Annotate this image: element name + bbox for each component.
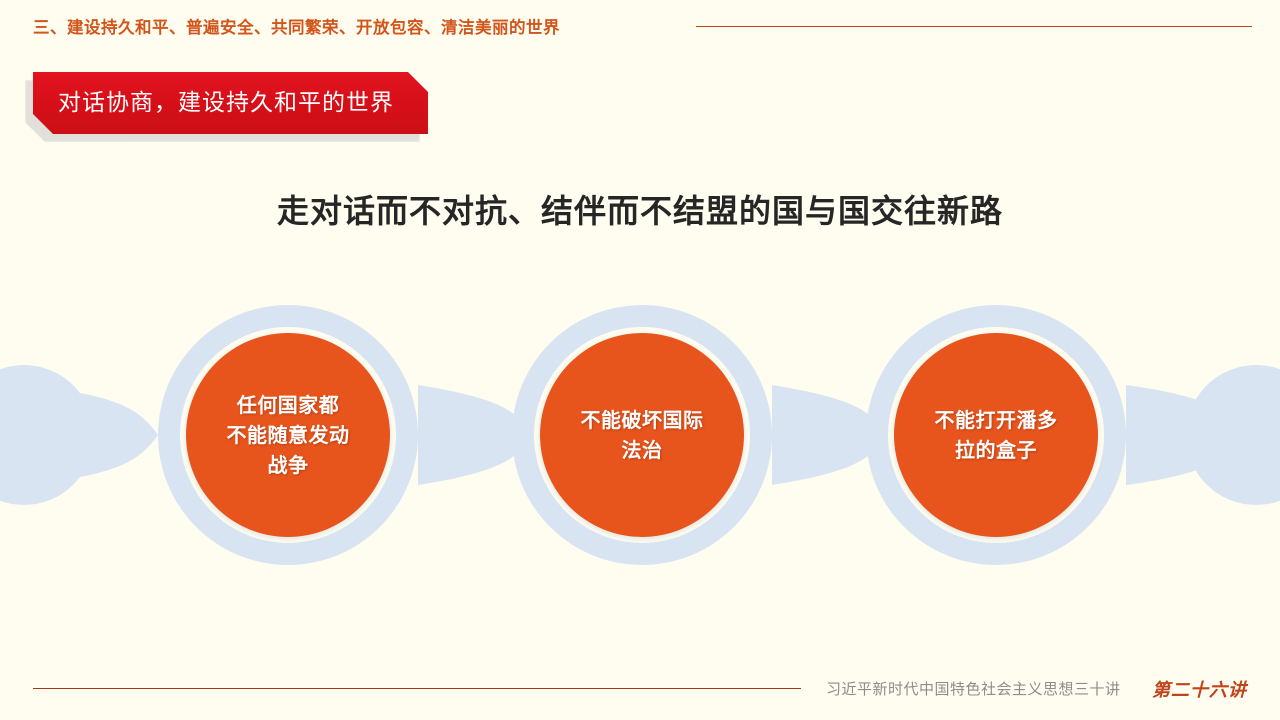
footer-book-title: 习近平新时代中国特色社会主义思想三十讲 xyxy=(826,678,1121,699)
subsection-banner: 对话协商，建设持久和平的世界 xyxy=(33,72,428,134)
node-label-2: 不能破坏国际 法治 xyxy=(542,405,742,465)
slide-header: 三、建设持久和平、普遍安全、共同繁荣、开放包容、清洁美丽的世界 xyxy=(0,0,1280,56)
page-title: 走对话而不对抗、结伴而不结盟的国与国交往新路 xyxy=(0,186,1280,232)
slide-canvas: 三、建设持久和平、普遍安全、共同繁荣、开放包容、清洁美丽的世界 对话协商，建设持… xyxy=(0,0,1280,720)
connector-0 xyxy=(24,385,158,485)
node-label-1-line-1: 任何国家都 xyxy=(188,390,388,420)
node-label-3-line-1: 不能打开潘多 xyxy=(896,405,1096,435)
node-label-2-line-1: 不能破坏国际 xyxy=(542,405,742,435)
slide-footer: 习近平新时代中国特色社会主义思想三十讲 第二十六讲 xyxy=(0,660,1280,720)
node-label-3: 不能打开潘多 拉的盒子 xyxy=(896,405,1096,465)
node-label-1: 任何国家都 不能随意发动 战争 xyxy=(188,390,388,480)
header-divider xyxy=(696,26,1252,27)
banner-label: 对话协商，建设持久和平的世界 xyxy=(58,72,394,134)
footer-lesson-number: 第二十六讲 xyxy=(1152,676,1247,702)
node-label-3-line-2: 拉的盒子 xyxy=(896,435,1096,465)
section-heading: 三、建设持久和平、普遍安全、共同繁荣、开放包容、清洁美丽的世界 xyxy=(33,14,560,38)
circle-chain-diagram: 任何国家都 不能随意发动 战争 不能破坏国际 法治 不能打开潘多 拉的盒子 xyxy=(0,280,1280,600)
node-label-1-line-2: 不能随意发动 xyxy=(188,420,388,450)
footer-divider xyxy=(33,688,801,689)
node-label-2-line-2: 法治 xyxy=(542,435,742,465)
node-label-1-line-3: 战争 xyxy=(188,450,388,480)
